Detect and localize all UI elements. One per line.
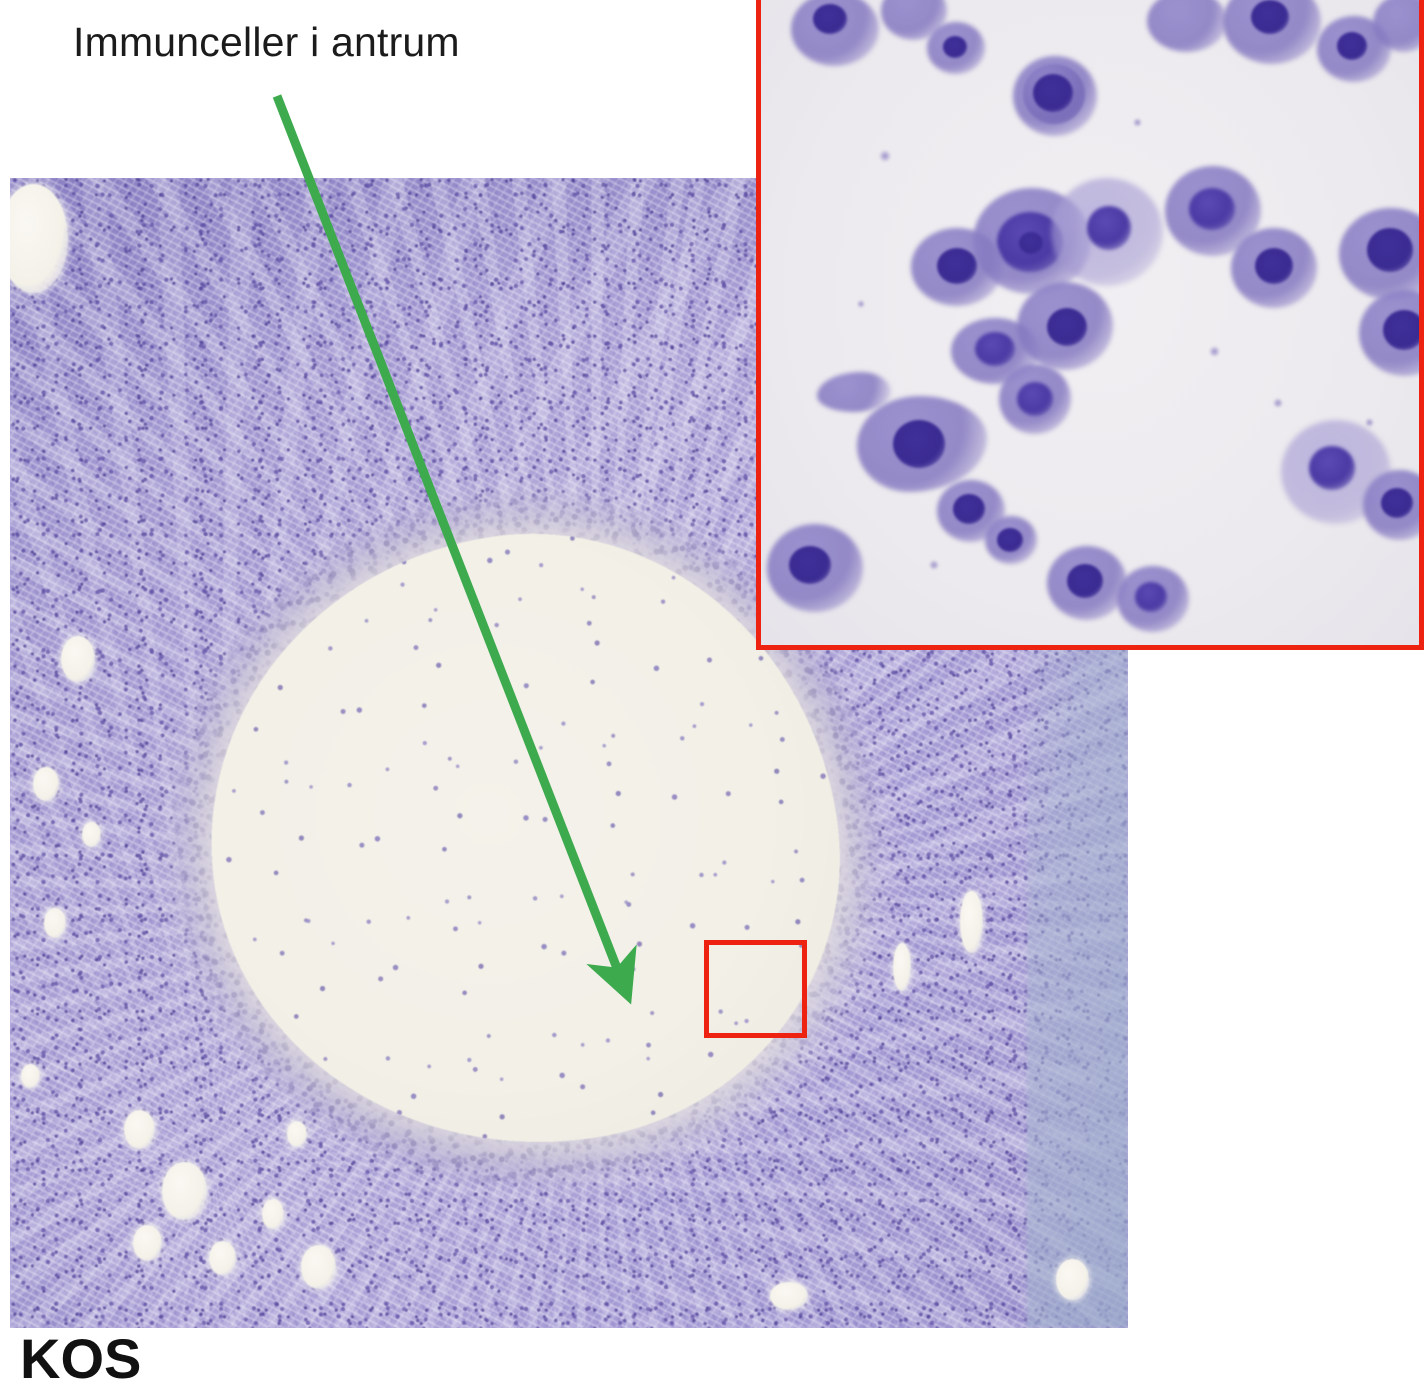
immune-cell-nucleus — [1255, 248, 1293, 284]
follicle — [1056, 1259, 1088, 1300]
immune-cell-nucleus — [1033, 74, 1073, 112]
follicle — [301, 1245, 337, 1289]
immune-cell-nucleus — [893, 420, 945, 468]
debris-speck — [929, 560, 939, 570]
follicle — [262, 1199, 284, 1229]
immune-cell-nucleus — [1019, 232, 1043, 254]
immune-cell-nucleus — [975, 332, 1015, 366]
immune-cell-nucleus — [1087, 206, 1131, 250]
follicle — [893, 943, 911, 991]
immune-cell-nucleus — [1189, 188, 1235, 230]
debris-speck — [879, 150, 891, 162]
debris-speck — [1133, 118, 1142, 127]
immune-cell-nucleus — [1337, 32, 1367, 60]
follicle — [82, 822, 101, 847]
debris-speck — [1365, 418, 1374, 427]
immune-cell-nucleus — [1067, 564, 1103, 598]
debris-speck — [1273, 398, 1283, 408]
immune-cell-nucleus — [1017, 382, 1053, 416]
immune-cell-nucleus — [1251, 0, 1289, 34]
immune-cell-nucleus — [943, 36, 967, 58]
immune-cell-nucleus — [937, 248, 977, 284]
immune-cell-nucleus — [997, 528, 1023, 552]
follicle — [44, 908, 66, 938]
follicle — [209, 1241, 236, 1276]
immune-cell-nucleus — [1367, 228, 1413, 272]
immune-cell-nucleus — [1383, 310, 1424, 350]
follicle — [61, 636, 95, 682]
follicle — [770, 1282, 808, 1310]
immune-cell-nucleus — [1135, 582, 1167, 612]
debris-speck — [857, 300, 865, 308]
page-title: Immunceller i antrum — [73, 20, 460, 66]
immune-cell-nucleus — [1381, 488, 1413, 518]
serosa-band — [1027, 592, 1128, 1328]
follicle — [21, 1064, 40, 1088]
immune-cell-nucleus — [953, 494, 985, 524]
follicle — [960, 891, 982, 953]
immune-cell-nucleus — [813, 4, 847, 34]
roi-rectangle — [704, 940, 807, 1038]
immune-cell-nucleus — [789, 546, 831, 584]
follicle — [124, 1110, 155, 1149]
inset-panel — [756, 0, 1424, 650]
immune-cell-nucleus — [1309, 446, 1355, 490]
follicle — [133, 1225, 162, 1262]
debris-speck — [1209, 346, 1220, 357]
follicle — [162, 1162, 207, 1220]
footer-text: KOS — [20, 1331, 141, 1387]
immune-cell-nucleus — [1047, 308, 1087, 346]
